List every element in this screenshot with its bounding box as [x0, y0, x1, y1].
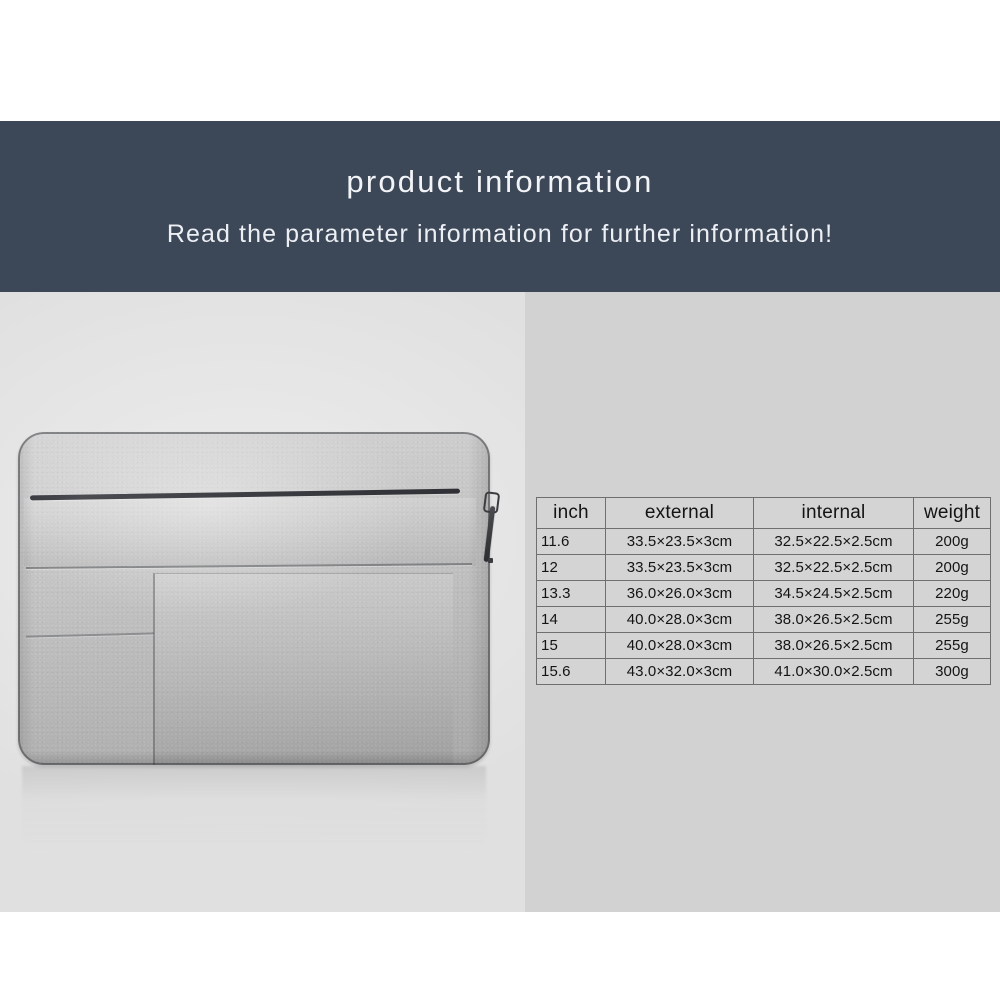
cell-internal: 32.5×22.5×2.5cm: [754, 529, 914, 555]
cell-internal: 34.5×24.5×2.5cm: [754, 581, 914, 607]
cell-inch: 11.6: [537, 529, 606, 555]
sleeve-piping-outline: [18, 432, 490, 765]
cell-weight: 300g: [914, 659, 991, 685]
cell-inch: 15: [537, 633, 606, 659]
specification-table: inch external internal weight 11.6 33.5×…: [536, 497, 991, 685]
zipper-pull-tab: [484, 506, 496, 562]
table-header-row: inch external internal weight: [537, 498, 991, 529]
table-row: 15.6 43.0×32.0×3cm 41.0×30.0×2.5cm 300g: [537, 659, 991, 685]
cell-external: 40.0×28.0×3cm: [606, 607, 754, 633]
product-info-page: product information Read the parameter i…: [0, 0, 1000, 1000]
cell-internal: 32.5×22.5×2.5cm: [754, 555, 914, 581]
cell-weight: 200g: [914, 555, 991, 581]
cell-internal: 38.0×26.5×2.5cm: [754, 633, 914, 659]
table-row: 13.3 36.0×26.0×3cm 34.5×24.5×2.5cm 220g: [537, 581, 991, 607]
cell-external: 33.5×23.5×3cm: [606, 555, 754, 581]
cell-internal: 38.0×26.5×2.5cm: [754, 607, 914, 633]
table-row: 14 40.0×28.0×3cm 38.0×26.5×2.5cm 255g: [537, 607, 991, 633]
cell-weight: 255g: [914, 633, 991, 659]
column-header-external: external: [606, 498, 754, 529]
cell-external: 36.0×26.0×3cm: [606, 581, 754, 607]
cell-weight: 200g: [914, 529, 991, 555]
cell-inch: 15.6: [537, 659, 606, 685]
column-header-weight: weight: [914, 498, 991, 529]
zipper-pull-tip: [488, 558, 493, 563]
product-photo: [0, 292, 525, 912]
table-row: 12 33.5×23.5×3cm 32.5×22.5×2.5cm 200g: [537, 555, 991, 581]
cell-internal: 41.0×30.0×2.5cm: [754, 659, 914, 685]
column-header-inch: inch: [537, 498, 606, 529]
header-banner: product information Read the parameter i…: [0, 121, 1000, 292]
column-header-internal: internal: [754, 498, 914, 529]
table-row: 11.6 33.5×23.5×3cm 32.5×22.5×2.5cm 200g: [537, 529, 991, 555]
zipper-pull-icon: [482, 492, 498, 564]
cell-external: 43.0×32.0×3cm: [606, 659, 754, 685]
spec-table-container: inch external internal weight 11.6 33.5×…: [536, 497, 990, 685]
cell-weight: 220g: [914, 581, 991, 607]
cell-inch: 14: [537, 607, 606, 633]
page-title: product information: [346, 165, 653, 199]
table-row: 15 40.0×28.0×3cm 38.0×26.5×2.5cm 255g: [537, 633, 991, 659]
cell-external: 40.0×28.0×3cm: [606, 633, 754, 659]
page-subtitle: Read the parameter information for furth…: [167, 221, 833, 249]
laptop-sleeve-body: [18, 432, 490, 765]
cell-weight: 255g: [914, 607, 991, 633]
cell-inch: 13.3: [537, 581, 606, 607]
cell-inch: 12: [537, 555, 606, 581]
cell-external: 33.5×23.5×3cm: [606, 529, 754, 555]
surface-reflection: [22, 766, 486, 858]
